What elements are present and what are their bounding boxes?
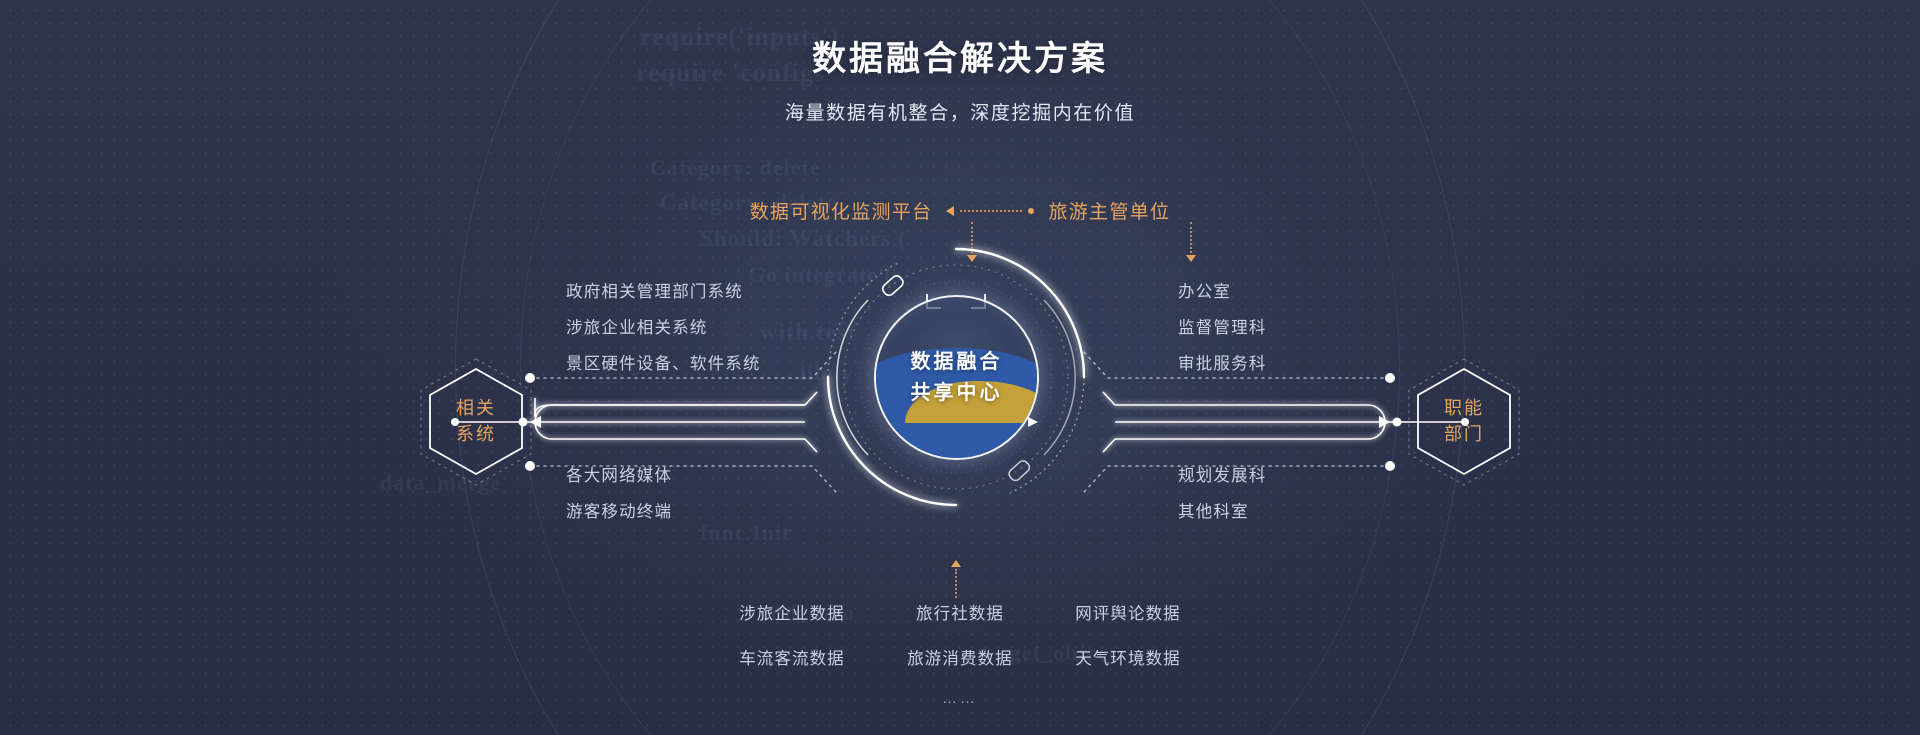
right-label-2: 审批服务科 bbox=[1178, 350, 1267, 374]
vdrop-left-top bbox=[967, 222, 977, 262]
right-label-1: 监督管理科 bbox=[1178, 314, 1267, 338]
left-label-1: 涉旅企业相关系统 bbox=[566, 314, 708, 338]
bottom-row-1: 涉旅企业数据 旅行社数据 网评舆论数据 bbox=[731, 600, 1189, 624]
bottom-label-4: 旅游消费数据 bbox=[899, 645, 1021, 669]
right-label-4: 其他科室 bbox=[1178, 498, 1249, 522]
vdrop-right-top bbox=[1186, 222, 1196, 262]
bottom-label-3: 车流客流数据 bbox=[731, 645, 853, 669]
top-orange-row: 数据可视化监测平台 旅游主管单位 bbox=[0, 197, 1920, 224]
header: 数据融合解决方案 海量数据有机整合，深度挖掘内在价值 bbox=[0, 38, 1920, 125]
triangle-left-icon bbox=[946, 206, 954, 216]
center-sphere[interactable]: 数据融合 共享中心 bbox=[874, 295, 1039, 460]
bg-code-text: Category: delete bbox=[650, 155, 821, 181]
bottom-ellipsis: …… bbox=[942, 690, 978, 707]
hex-right-line2: 部门 bbox=[1444, 422, 1484, 448]
sphere-label-line1: 数据融合 bbox=[911, 347, 1003, 378]
bottom-label-5: 天气环境数据 bbox=[1067, 645, 1189, 669]
bottom-label-grid: 涉旅企业数据 旅行社数据 网评舆论数据 车流客流数据 旅游消费数据 天气环境数据… bbox=[0, 600, 1920, 707]
label-data-visualization-platform[interactable]: 数据可视化监测平台 bbox=[750, 197, 933, 224]
dot-icon bbox=[1028, 208, 1034, 214]
triangle-up-icon bbox=[951, 560, 961, 567]
bg-code-text: func.Init bbox=[700, 520, 790, 546]
dotted-line bbox=[960, 210, 1022, 212]
hexagon-functional-departments[interactable]: 职能 部门 bbox=[1405, 356, 1523, 488]
sphere-label-line2: 共享中心 bbox=[911, 378, 1003, 409]
triangle-down-icon bbox=[967, 255, 977, 262]
bg-code-text: lib/ly bbox=[800, 360, 854, 386]
bg-code-text: with.test bbox=[760, 320, 856, 347]
left-label-0: 政府相关管理部门系统 bbox=[566, 278, 743, 302]
bg-code-text: Go integrate (s bbox=[748, 262, 902, 288]
bg-code-text: Should: Watchers ( bbox=[700, 226, 907, 252]
sphere-label: 数据融合 共享中心 bbox=[876, 297, 1037, 458]
hex-left-line2: 系统 bbox=[456, 422, 496, 448]
page-title: 数据融合解决方案 bbox=[0, 38, 1920, 81]
arrow-right-group bbox=[998, 417, 1402, 427]
hexagon-left-label: 相关 系统 bbox=[417, 356, 535, 488]
left-label-4: 游客移动终端 bbox=[566, 498, 672, 522]
bottom-label-2: 网评舆论数据 bbox=[1067, 600, 1189, 624]
label-tourism-authority[interactable]: 旅游主管单位 bbox=[1048, 197, 1170, 224]
left-label-3: 各大网络媒体 bbox=[566, 462, 672, 486]
ring-node-capsule-2 bbox=[1007, 459, 1031, 483]
bottom-label-1: 旅行社数据 bbox=[899, 600, 1021, 624]
hex-left-line1: 相关 bbox=[456, 396, 496, 422]
right-label-0: 办公室 bbox=[1178, 278, 1231, 302]
infographic-canvas: require('inputs') require 'configs' Cate… bbox=[0, 0, 1920, 735]
right-label-3: 规划发展科 bbox=[1178, 462, 1267, 486]
bottom-label-0: 涉旅企业数据 bbox=[731, 600, 853, 624]
top-connector bbox=[946, 205, 1034, 217]
left-label-2: 景区硬件设备、软件系统 bbox=[566, 350, 761, 374]
hexagon-right-label: 职能 部门 bbox=[1405, 356, 1523, 488]
bottom-row-2: 车流客流数据 旅游消费数据 天气环境数据 bbox=[731, 645, 1189, 669]
vdrop-bottom bbox=[951, 560, 961, 598]
ring-node-capsule bbox=[881, 274, 905, 298]
triangle-down-icon bbox=[1186, 255, 1196, 262]
hex-right-line1: 职能 bbox=[1444, 396, 1484, 422]
page-subtitle: 海量数据有机整合，深度挖掘内在价值 bbox=[0, 98, 1920, 125]
hexagon-related-systems[interactable]: 相关 系统 bbox=[417, 356, 535, 488]
